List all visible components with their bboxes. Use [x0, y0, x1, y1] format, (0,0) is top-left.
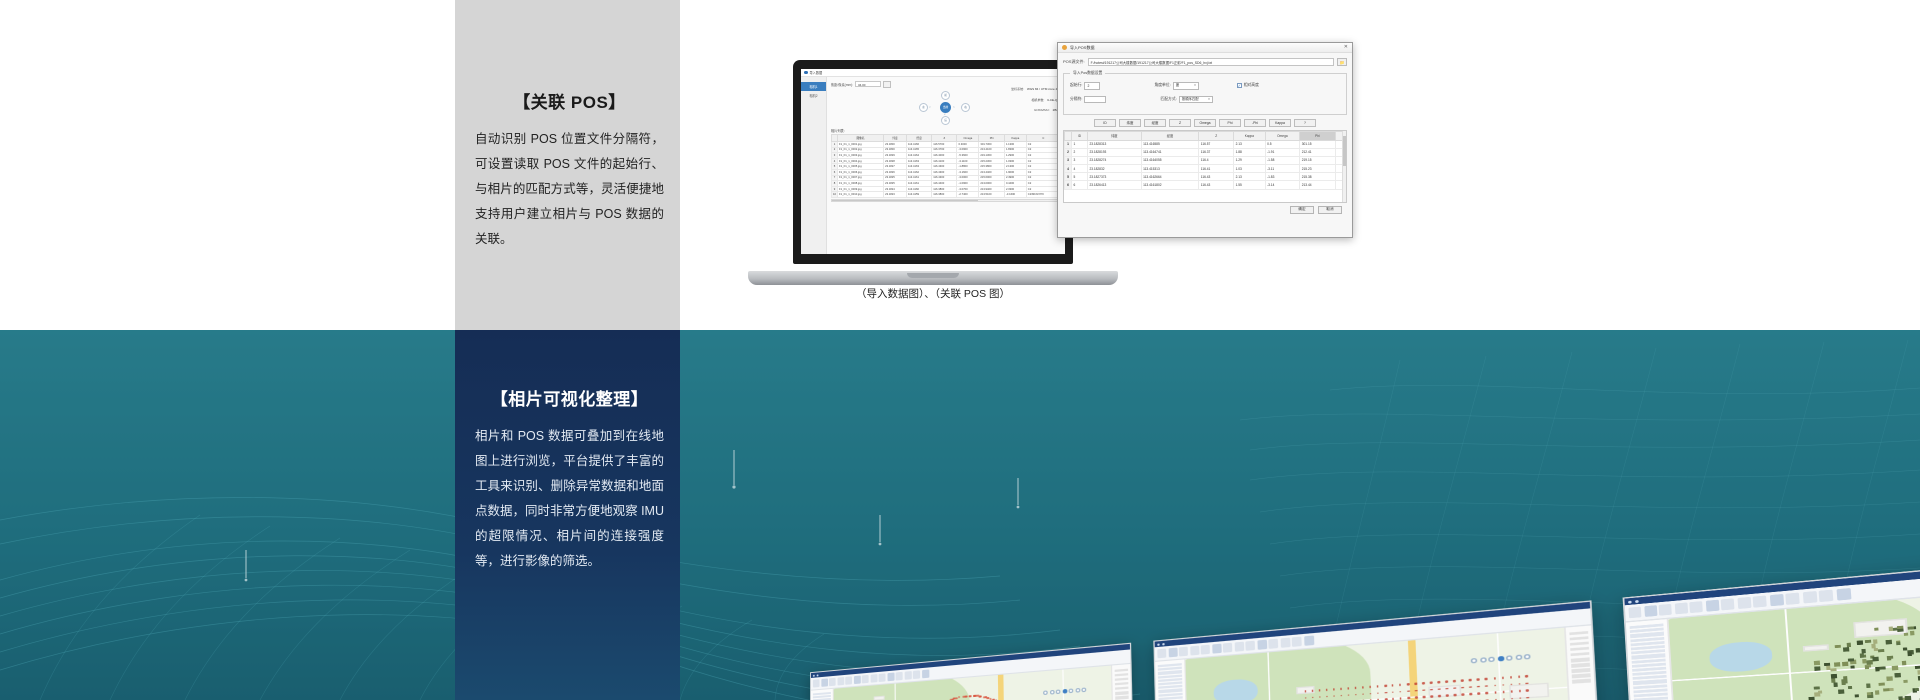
camera-nav: 相机1 相机2	[801, 77, 827, 254]
shot-properties-panel	[1564, 625, 1601, 700]
photo-col-5[interactable]: Omega	[957, 135, 979, 142]
photo-table-header: 图像名纬度经度ZOmegaPhiKappaC	[832, 135, 1061, 142]
photo-cell: -3.1600	[1004, 192, 1026, 198]
photo-col-3[interactable]: 经度	[906, 135, 931, 142]
page-root: 【关联 POS】 自动识别 POS 位置文件分隔符，可设置读取 POS 文件的起…	[0, 0, 1920, 700]
pos-source-row: POS源文件: F:/hotest/191217公司大楼数据/191217公司大…	[1063, 58, 1347, 66]
pos-cell: 0.5	[1265, 140, 1300, 148]
field-button-phi[interactable]: Phi	[1219, 119, 1241, 127]
pos-cell: -1.58	[1265, 156, 1300, 164]
field-button-id[interactable]: ID	[1094, 119, 1116, 127]
pos-cell: 113.4161802	[1141, 181, 1199, 189]
match-mode-label: 匹配方式:	[1160, 97, 1176, 102]
pos-col-经度[interactable]: 经度	[1141, 131, 1199, 140]
table-row[interactable]: 1123.1828313113.416585116.572.130.5301.1…	[1065, 140, 1346, 148]
field-button--phi[interactable]: -Phi	[1244, 119, 1266, 127]
field-button--[interactable]: 纬度	[1119, 119, 1141, 127]
right-info-panel: 坐标系统:WGS 84 / UTM zone 49N 相机参数:ILCE-QX1…	[987, 87, 1061, 119]
pos-source-label: POS源文件:	[1063, 59, 1085, 65]
focal-input[interactable]: 34.00	[855, 81, 881, 87]
pos-cell: 2.13	[1234, 173, 1265, 181]
folder-icon[interactable]: 📁	[1337, 58, 1347, 66]
pos-cell: 4	[1065, 165, 1072, 173]
pos-cell: 116.43	[1199, 181, 1234, 189]
pos-preview-table: ID纬度经度ZKappaOmegaPhi 1123.1828313113.416…	[1064, 131, 1346, 190]
photo-cell: C2/Mbf1/YP0	[1026, 192, 1060, 198]
photo-col-6[interactable]: Phi	[979, 135, 1005, 142]
dialog-body: POS源文件: F:/hotest/191217公司大楼数据/191217公司大…	[1058, 53, 1352, 219]
pos-cell: 2	[1072, 148, 1088, 156]
pos-preview-table-wrap: ID纬度经度ZKappaOmegaPhi 1123.1828313113.416…	[1063, 130, 1347, 203]
pos-cell: 23.1827373	[1087, 173, 1141, 181]
pos-panel-body: 自动识别 POS 位置文件分隔符，可设置读取 POS 文件的起始行、与相片的匹配…	[475, 127, 664, 252]
pos-cell: 213.44	[1300, 181, 1335, 189]
app-titlebar: 导入数据	[801, 69, 1065, 77]
pos-settings-legend: 导入Pos数据设置	[1070, 71, 1105, 76]
nav-item-camera2[interactable]: 相机2	[801, 91, 826, 100]
table-row[interactable]: 4423.182832113.415313116.411.03-3.11215.…	[1065, 165, 1346, 173]
photo-col-4[interactable]: Z	[932, 135, 957, 142]
pos-source-input[interactable]: F:/hotest/191217公司大楼数据/191217公司大楼数据/F1正射…	[1088, 58, 1334, 66]
shot-sidebar-list	[1155, 659, 1189, 700]
pos-cell: 113.416585	[1141, 140, 1199, 148]
photo-table-body: 1F1_F1_1_0001.jpg23.1800113.4166116.5700…	[832, 142, 1061, 198]
pos-cell: -3.11	[1265, 165, 1300, 173]
gnss-label: GNSS/IMU:	[1034, 108, 1050, 112]
photo-list-table: 图像名纬度经度ZOmegaPhiKappaC 1F1_F1_1_0001.jpg…	[831, 134, 1061, 198]
field-assign-buttons: ID纬度经度ZOmegaPhi-PhiKappa?	[1063, 119, 1347, 127]
dpad-left-arrow-icon: <	[929, 105, 931, 109]
pos-cell: 116.37	[1199, 148, 1234, 156]
shot-properties-panel	[1111, 664, 1134, 700]
pos-col-纬度[interactable]: 纬度	[1087, 131, 1141, 140]
section-associate-pos: 【关联 POS】 自动识别 POS 位置文件分隔符，可设置读取 POS 文件的起…	[0, 0, 1920, 330]
pos-col-Z[interactable]: Z	[1199, 131, 1234, 140]
pos-cell: 1.88	[1234, 148, 1265, 156]
coord-label: 坐标系统:	[1011, 87, 1024, 91]
shot-sidebar-list	[811, 689, 834, 700]
pos-cell: 23.1828313	[1087, 140, 1141, 148]
pos-cell: 23.1828274	[1087, 156, 1141, 164]
nav-item-camera1[interactable]: 相机1	[801, 82, 826, 91]
settings-row-2: 分隔符: 匹配方式:按顺序匹配	[1070, 96, 1340, 104]
angle-unit-label: 角度单位:	[1154, 83, 1170, 88]
laptop-base	[748, 271, 1118, 285]
table-row[interactable]: 2223.1828193113.4164741116.371.88-1.9121…	[1065, 148, 1346, 156]
separator-label: 分隔符:	[1070, 97, 1082, 102]
ok-button[interactable]: 确定	[1290, 206, 1314, 214]
table-row[interactable]: 10F1_F1_1_0010.jpg23.1823113.4159116.380…	[832, 192, 1061, 198]
pos-cell: 1	[1065, 140, 1072, 148]
pos-col-Omega[interactable]: Omega	[1265, 131, 1300, 140]
table-row[interactable]: 3323.1828274113.4164055116.41.29-1.58219…	[1065, 156, 1346, 164]
settings-row-1: 起始行:2 角度单位:度 ✓相对高度	[1070, 82, 1340, 90]
photo-cell: -2.7400	[957, 192, 979, 198]
dpad-down-arrow-icon: v	[944, 112, 946, 116]
pos-cell: 6	[1065, 181, 1072, 189]
coord-value: WGS 84 / UTM zone 49N	[1027, 87, 1061, 91]
pos-cell: 215.23	[1300, 165, 1335, 173]
photo-col-2[interactable]: 纬度	[884, 135, 907, 142]
field-button--[interactable]: 经度	[1144, 119, 1166, 127]
dialog-app-icon	[1062, 45, 1067, 50]
field-button--[interactable]: ?	[1294, 119, 1316, 127]
app-body: 相机1 相机2 焦距/像素(mm): 34.00 前	[801, 77, 1065, 254]
app-title-label: 导入数据	[810, 70, 823, 75]
field-button-omega[interactable]: Omega	[1194, 119, 1216, 127]
photo-cell: 213.5100	[979, 192, 1005, 198]
pos-cell: 219.15	[1300, 156, 1335, 164]
app-logo-icon	[804, 71, 808, 75]
app-main: 焦距/像素(mm): 34.00 前 ^ 左 < 当前	[827, 77, 1065, 254]
pos-cell: 4	[1072, 165, 1088, 173]
start-row-label: 起始行:	[1070, 83, 1082, 88]
photo-cell: F1_F1_1_0010.jpg	[838, 192, 884, 198]
photo-table-hscrollbar[interactable]	[831, 199, 1061, 202]
pos-cell: 2.13	[1234, 140, 1265, 148]
pos-cell: 5	[1072, 173, 1088, 181]
dialog-footer: 确定 取消	[1063, 203, 1347, 214]
dpad-right-arrow-icon: >	[953, 105, 955, 109]
pos-cell: 113.4164055	[1141, 156, 1199, 164]
pos-cell: 23.1826413	[1087, 181, 1141, 189]
dpad-left[interactable]: 左	[919, 103, 928, 112]
focal-picker-button[interactable]	[883, 81, 891, 88]
pos-cell: 212.41	[1300, 148, 1335, 156]
pos-cell: 3	[1065, 156, 1072, 164]
pos-figure-caption: （导入数据图）、（关联 POS 图）	[748, 286, 1118, 301]
separator-input[interactable]	[1084, 96, 1106, 104]
pos-cell: 301.15	[1300, 140, 1335, 148]
dpad-center[interactable]: 当前	[940, 102, 951, 113]
pos-cell: 6	[1072, 181, 1088, 189]
match-mode-select[interactable]: 按顺序匹配	[1179, 96, 1213, 104]
pos-cell: 1.03	[1234, 165, 1265, 173]
visualization-panel-body: 相片和 POS 数据可叠加到在线地图上进行浏览，平台提供了丰富的工具来识别、删除…	[475, 424, 664, 574]
pos-cell: 5	[1065, 173, 1072, 181]
pos-cell: 113.4162664	[1141, 173, 1199, 181]
photo-col-7[interactable]: Kappa	[1004, 135, 1026, 142]
pos-cell: -3.14	[1265, 181, 1300, 189]
pos-col-blank[interactable]	[1065, 131, 1072, 140]
laptop-screen: 导入数据 相机1 相机2 焦距/像素(mm): 34.00	[801, 69, 1065, 254]
dpad-up[interactable]: 前	[941, 91, 950, 100]
pos-table-vscrollbar[interactable]	[1342, 131, 1346, 202]
relative-height-label: 相对高度	[1244, 83, 1259, 88]
pos-col-ID[interactable]: ID	[1072, 131, 1088, 140]
pos-col-Phi[interactable]: Phi	[1300, 131, 1335, 140]
visualization-text-panel: 【相片可视化整理】 相片和 POS 数据可叠加到在线地图上进行浏览，平台提供了丰…	[455, 330, 680, 700]
cancel-button[interactable]: 取消	[1318, 206, 1342, 214]
pos-cell: 116.41	[1199, 165, 1234, 173]
pos-cell: 116.4	[1199, 156, 1234, 164]
pos-cell: 116.57	[1199, 140, 1234, 148]
photo-cell: 113.4159	[906, 192, 931, 198]
photo-col-8[interactable]: C	[1026, 135, 1060, 142]
angle-unit-select[interactable]: 度	[1173, 82, 1199, 90]
start-row-input[interactable]: 2	[1084, 82, 1100, 90]
section-photo-visualization: 【相片可视化整理】 相片和 POS 数据可叠加到在线地图上进行浏览，平台提供了丰…	[0, 330, 1920, 700]
pos-cell: -1.91	[1265, 148, 1300, 156]
pos-cell: 23.1828193	[1087, 148, 1141, 156]
pos-cell: 1.55	[1234, 181, 1265, 189]
field-button-kappa[interactable]: Kappa	[1269, 119, 1291, 127]
camera-label: 相机参数:	[1031, 98, 1044, 102]
pos-cell: 113.4164741	[1141, 148, 1199, 156]
checkbox-check-icon: ✓	[1237, 83, 1242, 88]
dpad-down[interactable]: 后	[941, 116, 950, 125]
laptop-trackpad-notch	[907, 273, 959, 278]
pos-text-panel: 【关联 POS】 自动识别 POS 位置文件分隔符，可设置读取 POS 文件的起…	[455, 0, 680, 330]
pos-cell: 215.38	[1300, 173, 1335, 181]
dpad-right[interactable]: 右	[961, 103, 970, 112]
pos-cell: 3	[1072, 156, 1088, 164]
photo-cell: 23.1823	[884, 192, 907, 198]
table-row[interactable]: 5523.1827373113.4162664116.432.13-1.8321…	[1065, 173, 1346, 181]
photo-col-1[interactable]: 图像名	[838, 135, 884, 142]
photo-list-label: 相片列表:	[831, 128, 1061, 133]
dialog-titlebar: 导入POS数据 ✕	[1058, 43, 1352, 53]
pos-table-header: ID纬度经度ZKappaOmegaPhi	[1065, 131, 1346, 140]
pos-table-body: 1123.1828313113.416585116.572.130.5301.1…	[1065, 140, 1346, 189]
relative-height-checkbox[interactable]: ✓相对高度	[1237, 83, 1259, 88]
pos-panel-title: 【关联 POS】	[475, 88, 664, 113]
photo-cell: 116.3800	[932, 192, 957, 198]
pos-cell: 1	[1072, 140, 1088, 148]
pos-cell: -1.83	[1265, 173, 1300, 181]
field-button-z[interactable]: Z	[1169, 119, 1191, 127]
close-icon[interactable]: ✕	[1344, 45, 1348, 50]
laptop-lid: 导入数据 相机1 相机2 焦距/像素(mm): 34.00	[793, 60, 1073, 264]
direction-pad: 前 ^ 左 < 当前 > 右 v 后	[919, 91, 973, 125]
pos-cell: 1.29	[1234, 156, 1265, 164]
dialog-title-label: 导入POS数据	[1070, 45, 1094, 51]
pos-cell: 2	[1065, 148, 1072, 156]
visualization-panel-title: 【相片可视化整理】	[475, 385, 664, 410]
pos-cell: 113.415313	[1141, 165, 1199, 173]
pos-cell: 116.43	[1199, 173, 1234, 181]
table-row[interactable]: 6623.1826413113.4161802116.431.55-3.1421…	[1065, 181, 1346, 189]
pos-col-Kappa[interactable]: Kappa	[1234, 131, 1265, 140]
pos-cell: 23.182832	[1087, 165, 1141, 173]
import-pos-dialog: 导入POS数据 ✕ POS源文件: F:/hotest/191217公司大楼数据…	[1057, 42, 1353, 238]
import-data-app: 导入数据 相机1 相机2 焦距/像素(mm): 34.00	[801, 69, 1065, 254]
pos-settings-group: 导入Pos数据设置 起始行:2 角度单位:度 ✓相对高度 分隔符: 匹配方式:按…	[1063, 71, 1347, 115]
focal-label: 焦距/像素(mm):	[831, 82, 853, 87]
